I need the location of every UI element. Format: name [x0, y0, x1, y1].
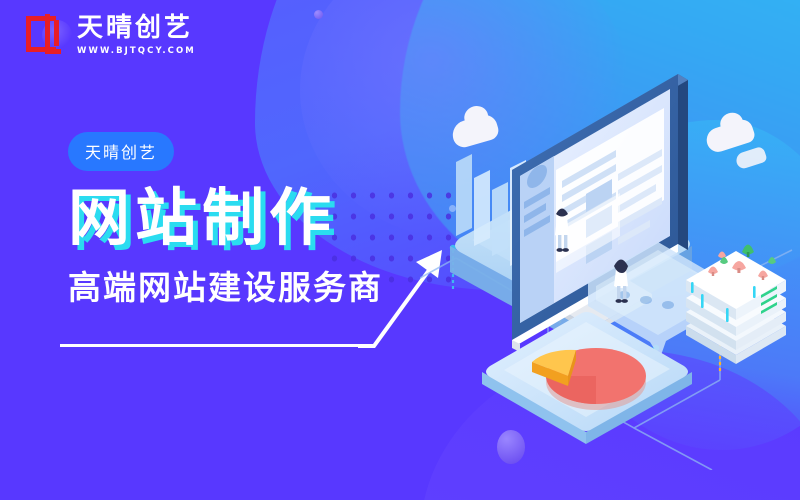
isometric-server-stack	[686, 245, 786, 365]
logo-mark-icon	[26, 14, 68, 56]
isometric-illustration	[420, 50, 800, 470]
badge-label: 天晴创艺	[68, 132, 174, 171]
page-subtitle: 高端网站建设服务商	[68, 271, 383, 304]
logo-text: 天晴创艺 WWW.BJTQCY.COM	[77, 15, 196, 56]
decorative-sphere	[314, 10, 323, 19]
logo-brand-name: 天晴创艺	[77, 15, 196, 41]
brand-logo[interactable]: 天晴创艺 WWW.BJTQCY.COM	[26, 14, 196, 56]
logo-website-url: WWW.BJTQCY.COM	[77, 47, 196, 56]
promo-banner: 天晴创艺 WWW.BJTQCY.COM 天晴创艺 网站制作 高端网站建设服务商	[0, 0, 800, 500]
headline-block: 天晴创艺 网站制作 高端网站建设服务商	[68, 132, 383, 304]
page-title: 网站制作	[68, 187, 383, 249]
divider-rule	[60, 344, 370, 347]
